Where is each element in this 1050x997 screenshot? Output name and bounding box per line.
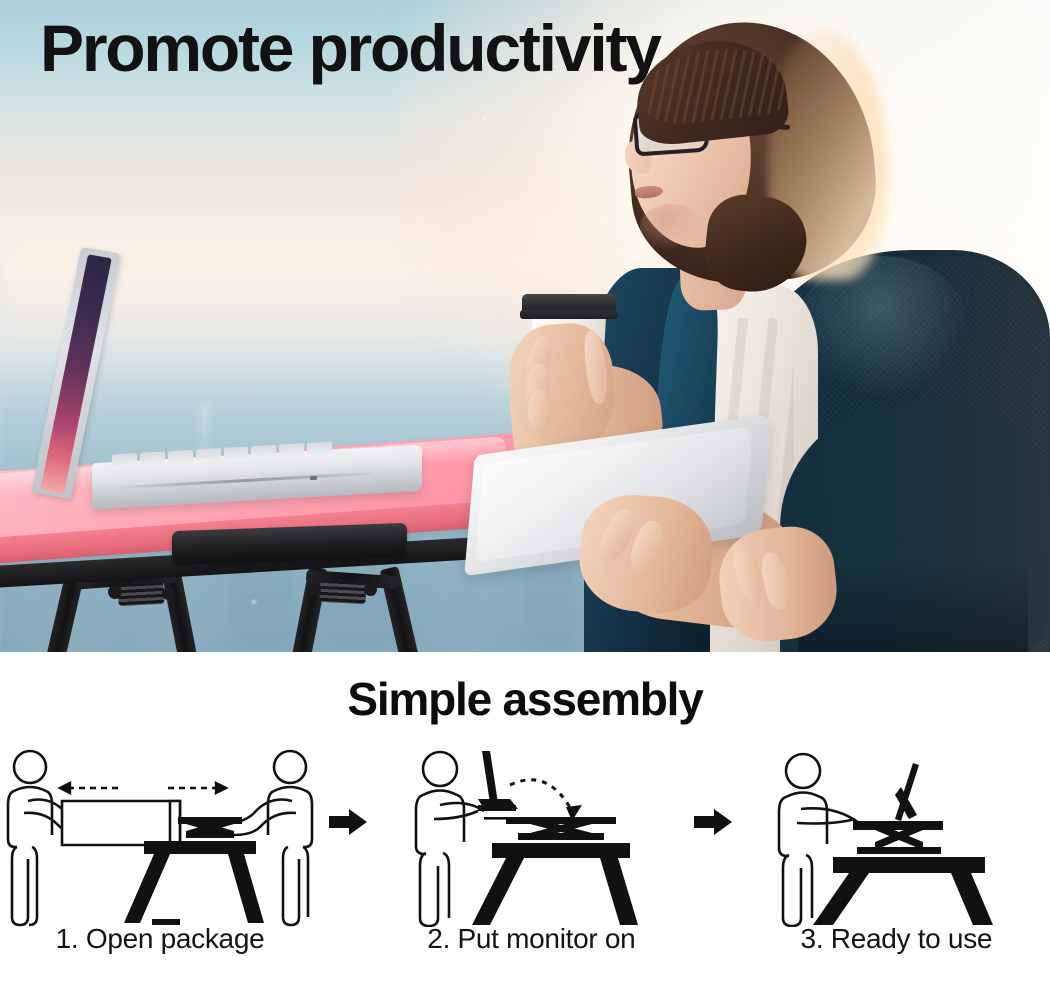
person-placing-monitor-icon: [406, 747, 656, 927]
arrow-right-icon: [694, 807, 734, 837]
assembly-step-2-label: 2. Put monitor on: [378, 923, 685, 955]
person-using-laptop-on-riser-icon: [771, 747, 1021, 927]
assembly-step-1-label: 1. Open package: [0, 923, 320, 955]
step-separator-1: [320, 747, 378, 837]
assembly-step-2: 2. Put monitor on: [378, 747, 685, 955]
businesswoman: [468, 0, 1050, 652]
hero-photo-section: Promote productivity: [0, 0, 1050, 652]
hair-strands: [641, 43, 788, 127]
assembly-step-3-label: 3. Ready to use: [743, 923, 1050, 955]
assembly-section: Simple assembly: [0, 652, 1050, 997]
assembly-steps: 1. Open package: [0, 747, 1050, 997]
laptop-port: [310, 476, 317, 480]
hero-headline: Promote productivity: [40, 14, 660, 83]
product-feature-graphic: Promote productivity Simple assembly: [0, 0, 1050, 997]
jaw-shadow: [640, 204, 702, 250]
assembly-step-3: 3. Ready to use: [743, 747, 1050, 955]
two-people-carrying-package-icon: [0, 747, 320, 927]
arrow-right-icon: [329, 807, 369, 837]
laptop: [20, 248, 440, 516]
assembly-heading: Simple assembly: [0, 672, 1050, 726]
step-separator-2: [685, 747, 743, 837]
coffee-cup-lid-rim: [520, 310, 618, 319]
assembly-step-1: 1. Open package: [0, 747, 320, 955]
